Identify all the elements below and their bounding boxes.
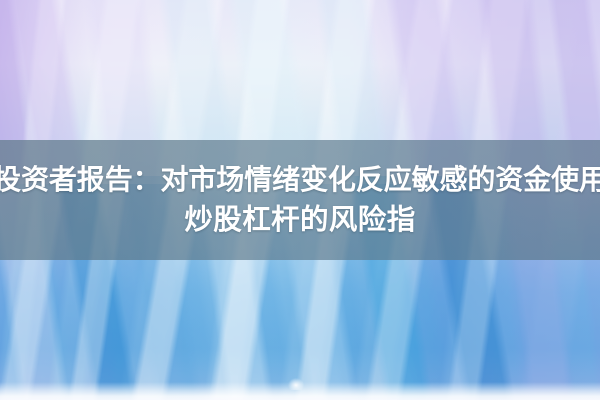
headline-block: 投资者报告：对市场情绪变化反应敏感的资金使用 炒股杠杆的风险指 (0, 140, 600, 260)
headline-line-2: 炒股杠杆的风险指 (184, 200, 415, 240)
headline-line-1: 投资者报告：对市场情绪变化反应敏感的资金使用 (0, 160, 600, 200)
report-cover-banner: 投资者报告：对市场情绪变化反应敏感的资金使用 炒股杠杆的风险指 (0, 0, 600, 400)
sparkle-icon (288, 378, 304, 390)
